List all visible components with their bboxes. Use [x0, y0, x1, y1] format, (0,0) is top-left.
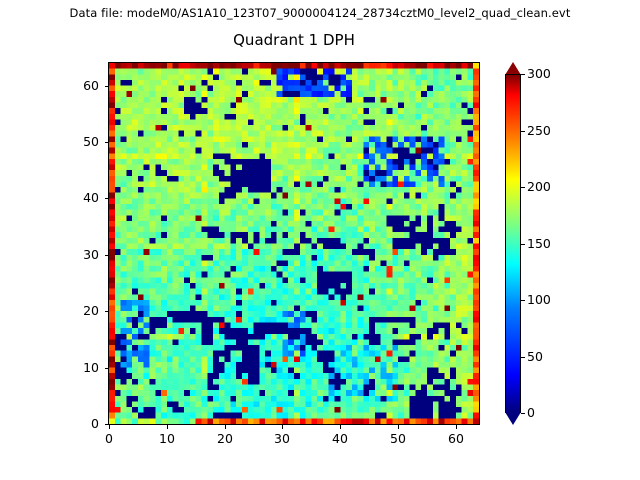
x-tick-label: 0 — [84, 432, 134, 446]
x-tick-label: 40 — [315, 432, 365, 446]
x-tick-label: 60 — [431, 432, 481, 446]
matplotlib-figure: Data file: modeM0/AS1A10_123T07_90000041… — [0, 0, 640, 480]
colorbar-tick-label: 100 — [527, 293, 551, 307]
colorbar-tick-mark — [521, 413, 525, 414]
colorbar-tick-label: 0 — [527, 406, 535, 420]
colorbar-tick-mark — [521, 131, 525, 132]
x-tick-label: 10 — [142, 432, 192, 446]
colorbar-tick-mark — [521, 300, 525, 301]
colorbar-tick-label: 300 — [527, 67, 551, 81]
colorbar[interactable]: 050100150200250300 — [505, 62, 521, 425]
x-tick-label: 50 — [373, 432, 423, 446]
x-tick-mark — [398, 425, 399, 429]
x-tick-mark — [340, 425, 341, 429]
colorbar-tick-label: 50 — [527, 350, 543, 364]
x-tick-mark — [167, 425, 168, 429]
colorbar-tick-mark — [521, 187, 525, 188]
colorbar-extend-min-arrow — [505, 412, 521, 425]
colorbar-tick-label: 200 — [527, 180, 551, 194]
colorbar-gradient — [505, 74, 521, 413]
x-tick-mark — [109, 425, 110, 429]
x-tick-mark — [282, 425, 283, 429]
x-tick-label: 30 — [257, 432, 307, 446]
colorbar-tick-mark — [521, 357, 525, 358]
x-tick-label: 20 — [200, 432, 250, 446]
colorbar-tick-mark — [521, 244, 525, 245]
x-tick-mark — [456, 425, 457, 429]
colorbar-tick-mark — [521, 74, 525, 75]
colorbar-tick-label: 150 — [527, 237, 551, 251]
colorbar-tick-label: 250 — [527, 124, 551, 138]
x-tick-mark — [225, 425, 226, 429]
